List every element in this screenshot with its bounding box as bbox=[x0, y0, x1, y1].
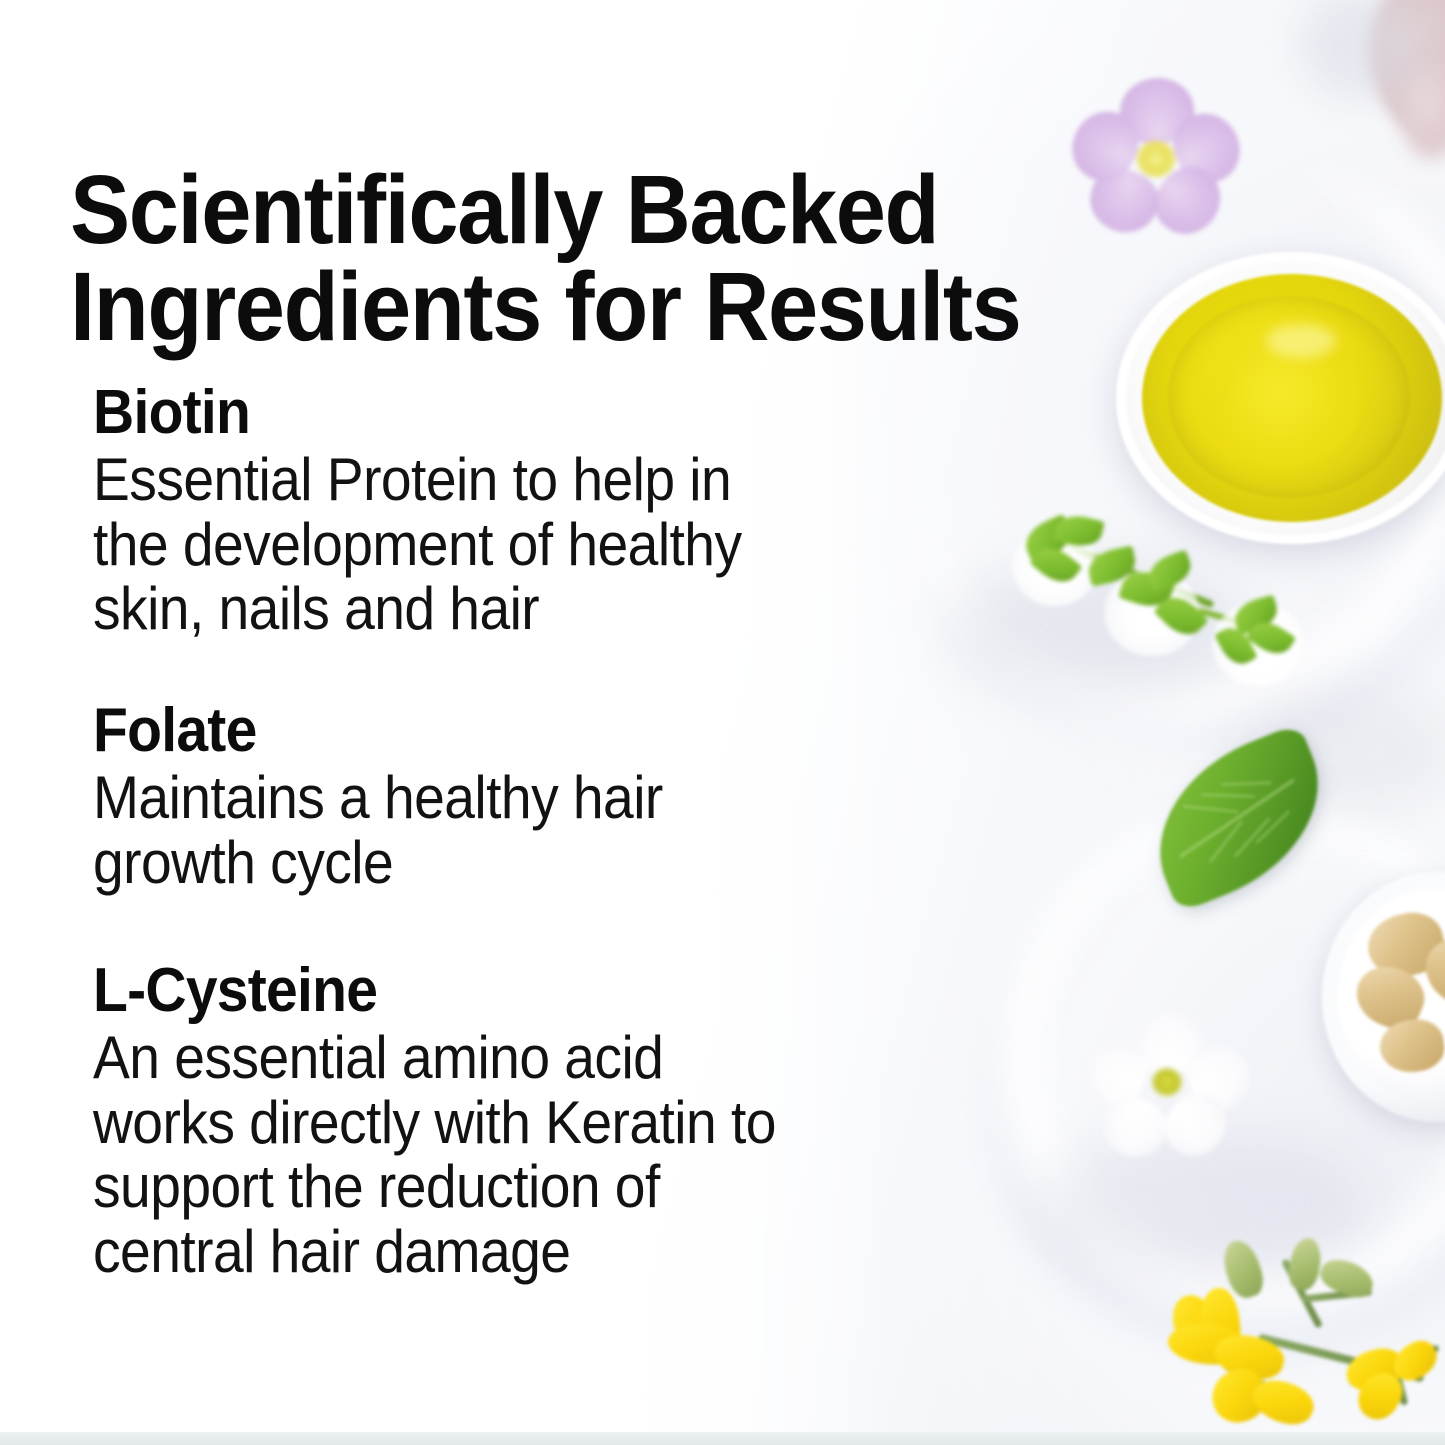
ingredient-description: Maintains a healthy hair growth cycle bbox=[93, 766, 903, 895]
ingredient-description: An essential amino acid works directly w… bbox=[93, 1026, 903, 1284]
ingredient-section-folate: Folate Maintains a healthy hair growth c… bbox=[93, 700, 973, 895]
bottom-border-strip bbox=[0, 1432, 1445, 1445]
ingredient-section-biotin: Biotin Essential Protein to help in the … bbox=[93, 382, 973, 642]
ingredient-section-l-cysteine: L-Cysteine An essential amino acid works… bbox=[93, 960, 973, 1284]
ingredient-description: Essential Protein to help in the develop… bbox=[93, 448, 903, 642]
ingredient-name: Folate bbox=[93, 700, 903, 762]
product-ingredient-infographic: Scientifically Backed Ingredients for Re… bbox=[0, 0, 1445, 1445]
ingredient-name: Biotin bbox=[93, 382, 903, 444]
ingredient-name: L-Cysteine bbox=[93, 960, 903, 1022]
text-content: Scientifically Backed Ingredients for Re… bbox=[0, 0, 1445, 1445]
page-title: Scientifically Backed Ingredients for Re… bbox=[70, 161, 1084, 355]
